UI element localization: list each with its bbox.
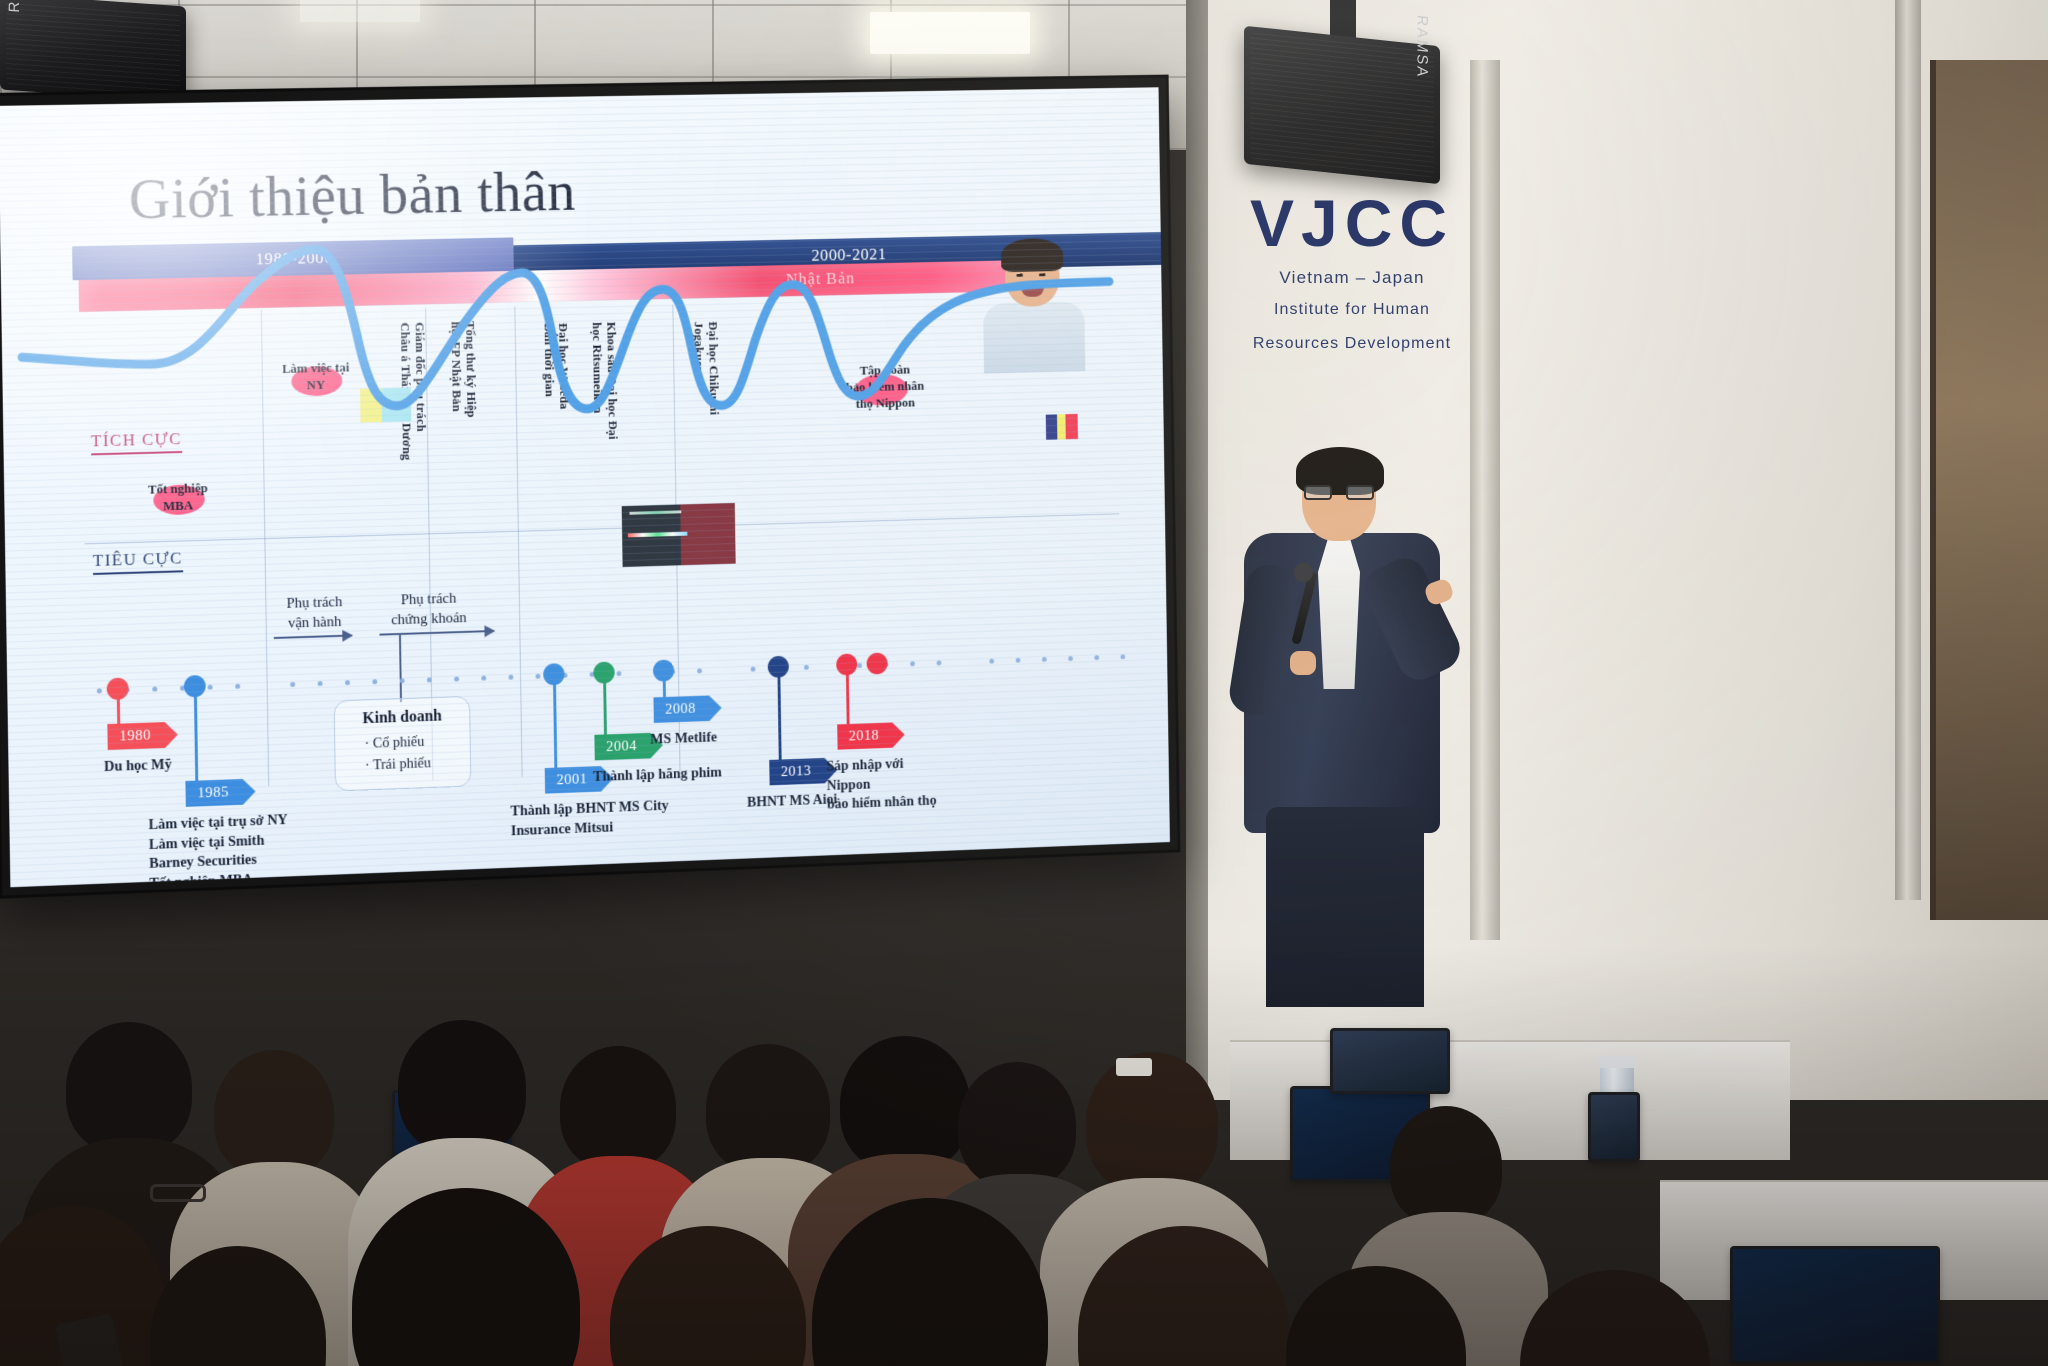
timeline-node-2013 (768, 656, 789, 678)
timeline-node-2018b (866, 652, 887, 674)
audience-head (958, 1062, 1076, 1188)
audience-head (214, 1050, 334, 1178)
audience-head (66, 1022, 192, 1154)
timeline-node-2018a (836, 653, 857, 675)
career-curve (0, 88, 1125, 586)
speaker-grill (6, 0, 180, 96)
audience-head (560, 1046, 676, 1170)
timeline-year-2008: 2008 (653, 696, 709, 723)
flow-label-van-hanh: Phụ trách vận hành (261, 592, 367, 634)
speaker-grill (1250, 32, 1434, 177)
timeline-node-2004 (593, 661, 615, 683)
ceiling-light-3 (300, 0, 420, 22)
timeline-dot-axis (97, 654, 1136, 691)
speaker-brand-left: RAMSA (6, 0, 23, 13)
audience-head (706, 1044, 830, 1174)
vjcc-subtitle-3: Resources Development (1232, 332, 1472, 356)
year-text: 2008 (665, 700, 696, 718)
ceiling-light-1 (870, 12, 1030, 54)
artifact-streak-top (629, 510, 681, 514)
screen-artifact-overlay (622, 503, 736, 567)
vjcc-subtitle-2: Institute for Human (1232, 298, 1472, 322)
ceiling-speaker-right: RAMSA (1244, 26, 1440, 185)
artifact-streak (628, 532, 688, 538)
audience-head (840, 1036, 970, 1172)
vjcc-wordmark: VJCC (1232, 190, 1472, 256)
flow-arrow-drop (399, 633, 402, 702)
flow-label-chung-khoan: Phụ trách chứng khoán (367, 589, 490, 631)
hair-clip (1116, 1058, 1152, 1076)
timeline-node-2008 (653, 660, 674, 682)
audience-head-front (1520, 1270, 1710, 1366)
vjcc-subtitle-1: Vietnam – Japan (1232, 268, 1472, 288)
audience-head (1086, 1052, 1218, 1194)
audience-head (1390, 1106, 1502, 1226)
presenter-hand-mic (1290, 651, 1316, 675)
ceiling-speaker-left: RAMSA (0, 0, 186, 103)
presenter-glasses (1304, 485, 1374, 501)
speaker-brand-right: RAMSA (1413, 14, 1430, 79)
timeline-node-1980 (107, 678, 129, 701)
audience-head (398, 1020, 526, 1154)
vjcc-logo: VJCC Vietnam – Japan Institute for Human… (1232, 190, 1472, 356)
eyeglasses-audience (150, 1184, 206, 1202)
timeline-node-1985 (184, 675, 206, 698)
screenshot-root: RAMSA RAMSA Giới thiệu bản thân 1980-200… (0, 0, 2048, 1366)
flow-arrow-chung-khoan (379, 630, 494, 636)
audience (0, 726, 2048, 1366)
timeline-node-2001 (543, 663, 565, 685)
microphone-head (1294, 563, 1313, 582)
flow-arrow-van-hanh (274, 635, 352, 639)
